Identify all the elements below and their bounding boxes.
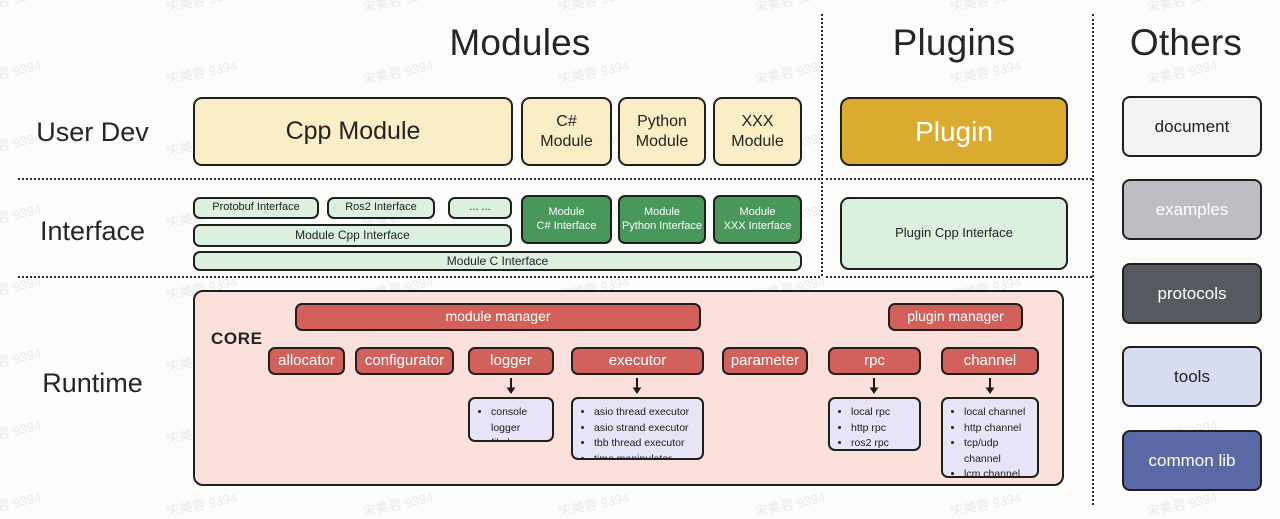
csharp-module-box[interactable]: C# Module [521, 97, 612, 166]
architecture-diagram: 宋美蓉 9394宋美蓉 9394宋美蓉 9394宋美蓉 9394宋美蓉 9394… [0, 0, 1280, 519]
module-python-interface-box[interactable]: Module Python Interface [618, 195, 706, 244]
plugin-box[interactable]: Plugin [840, 97, 1068, 166]
row-label-runtime: Runtime [0, 368, 185, 399]
configurator-box[interactable]: configurator [355, 347, 454, 375]
separator-userdev-interface-plugins [826, 178, 1092, 180]
executor-box[interactable]: executor [571, 347, 704, 375]
detail-list-item: tcp/udp channel [964, 436, 1029, 467]
detail-list-item: tbb thread executor [594, 436, 694, 452]
plugin-manager-box[interactable]: plugin manager [888, 303, 1023, 331]
module-manager-box[interactable]: module manager [295, 303, 701, 331]
arrow-down-channel [983, 378, 997, 395]
more-interface-box[interactable]: ... ... [448, 197, 512, 219]
others-item-document[interactable]: document [1122, 96, 1262, 157]
arrow-down-logger [504, 378, 518, 395]
watermark-text: 宋美蓉 9394 [165, 0, 239, 16]
column-title-plugins: Plugins [824, 22, 1084, 64]
watermark-text: 宋美蓉 9394 [949, 487, 1023, 519]
plugin-cpp-interface-box[interactable]: Plugin Cpp Interface [840, 197, 1068, 270]
rpc-detail-items: local rpchttp rpcros2 rpc [838, 405, 911, 451]
executor-detail-items: asio thread executorasio strand executor… [581, 405, 694, 460]
allocator-box[interactable]: allocator [268, 347, 345, 375]
column-title-modules: Modules [390, 22, 650, 64]
ros2-interface-box[interactable]: Ros2 Interface [327, 197, 435, 219]
watermark-text: 宋美蓉 9394 [361, 0, 435, 16]
watermark-text: 宋美蓉 9394 [0, 55, 43, 88]
module-cpp-interface-box[interactable]: Module Cpp Interface [193, 224, 512, 247]
python-module-box[interactable]: Python Module [618, 97, 706, 166]
separator-modules-plugins [821, 14, 823, 276]
module-c-interface-box[interactable]: Module C Interface [193, 251, 802, 271]
logger-detail-items: console loggerfile logger [478, 405, 544, 442]
separator-interface-runtime-plugins [826, 276, 1092, 278]
others-item-examples[interactable]: examples [1122, 179, 1262, 240]
detail-list-item: local channel [964, 405, 1029, 421]
watermark-text: 宋美蓉 9394 [0, 0, 43, 16]
protobuf-interface-box[interactable]: Protobuf Interface [193, 197, 319, 219]
logger-box[interactable]: logger [468, 347, 554, 375]
watermark-text: 宋美蓉 9394 [165, 487, 239, 519]
watermark-text: 宋美蓉 9394 [361, 487, 435, 519]
detail-list-item: file logger [491, 436, 544, 442]
channel-detail-list: local channelhttp channeltcp/udp channel… [941, 397, 1039, 478]
others-item-tools[interactable]: tools [1122, 346, 1262, 407]
executor-detail-list: asio thread executorasio strand executor… [571, 397, 704, 460]
watermark-text: 宋美蓉 9394 [165, 55, 239, 88]
watermark-text: 宋美蓉 9394 [0, 415, 43, 448]
watermark-text: 宋美蓉 9394 [753, 55, 827, 88]
separator-interface-runtime-modules [18, 276, 820, 278]
watermark-text: 宋美蓉 9394 [1145, 0, 1219, 16]
channel-box[interactable]: channel [941, 347, 1039, 375]
detail-list-item: lcm channel [964, 467, 1029, 478]
detail-list-item: http rpc [851, 421, 911, 437]
others-item-protocols[interactable]: protocols [1122, 263, 1262, 324]
column-title-others: Others [1098, 22, 1274, 64]
detail-list-item: http channel [964, 421, 1029, 437]
watermark-text: 宋美蓉 9394 [0, 487, 43, 519]
cpp-module-box[interactable]: Cpp Module [193, 97, 513, 166]
rpc-detail-list: local rpchttp rpcros2 rpc [828, 397, 921, 451]
xxx-module-box[interactable]: XXX Module [713, 97, 802, 166]
detail-list-item: ros2 rpc [851, 436, 911, 451]
module-xxx-interface-box[interactable]: Module XXX Interface [713, 195, 802, 244]
arrow-down-rpc [867, 378, 881, 395]
parameter-box[interactable]: parameter [722, 347, 808, 375]
watermark-text: 宋美蓉 9394 [1145, 487, 1219, 519]
detail-list-item: local rpc [851, 405, 911, 421]
detail-list-item: time manipulator executor [594, 452, 694, 460]
watermark-text: 宋美蓉 9394 [557, 0, 631, 16]
detail-list-item: asio thread executor [594, 405, 694, 421]
detail-list-item: asio strand executor [594, 421, 694, 437]
core-label: CORE [211, 329, 263, 349]
module-csharp-interface-box[interactable]: Module C# Interface [521, 195, 612, 244]
rpc-box[interactable]: rpc [828, 347, 921, 375]
watermark-text: 宋美蓉 9394 [949, 0, 1023, 16]
channel-detail-items: local channelhttp channeltcp/udp channel… [951, 405, 1029, 478]
separator-plugins-others [1092, 14, 1094, 505]
separator-userdev-interface-modules [18, 178, 820, 180]
watermark-text: 宋美蓉 9394 [557, 487, 631, 519]
others-item-common-lib[interactable]: common lib [1122, 430, 1262, 491]
watermark-text: 宋美蓉 9394 [753, 487, 827, 519]
watermark-text: 宋美蓉 9394 [753, 0, 827, 16]
row-label-interface: Interface [0, 216, 185, 247]
row-label-user-dev: User Dev [0, 117, 185, 148]
arrow-down-executor [630, 378, 644, 395]
logger-detail-list: console loggerfile logger [468, 397, 554, 442]
detail-list-item: console logger [491, 405, 544, 436]
